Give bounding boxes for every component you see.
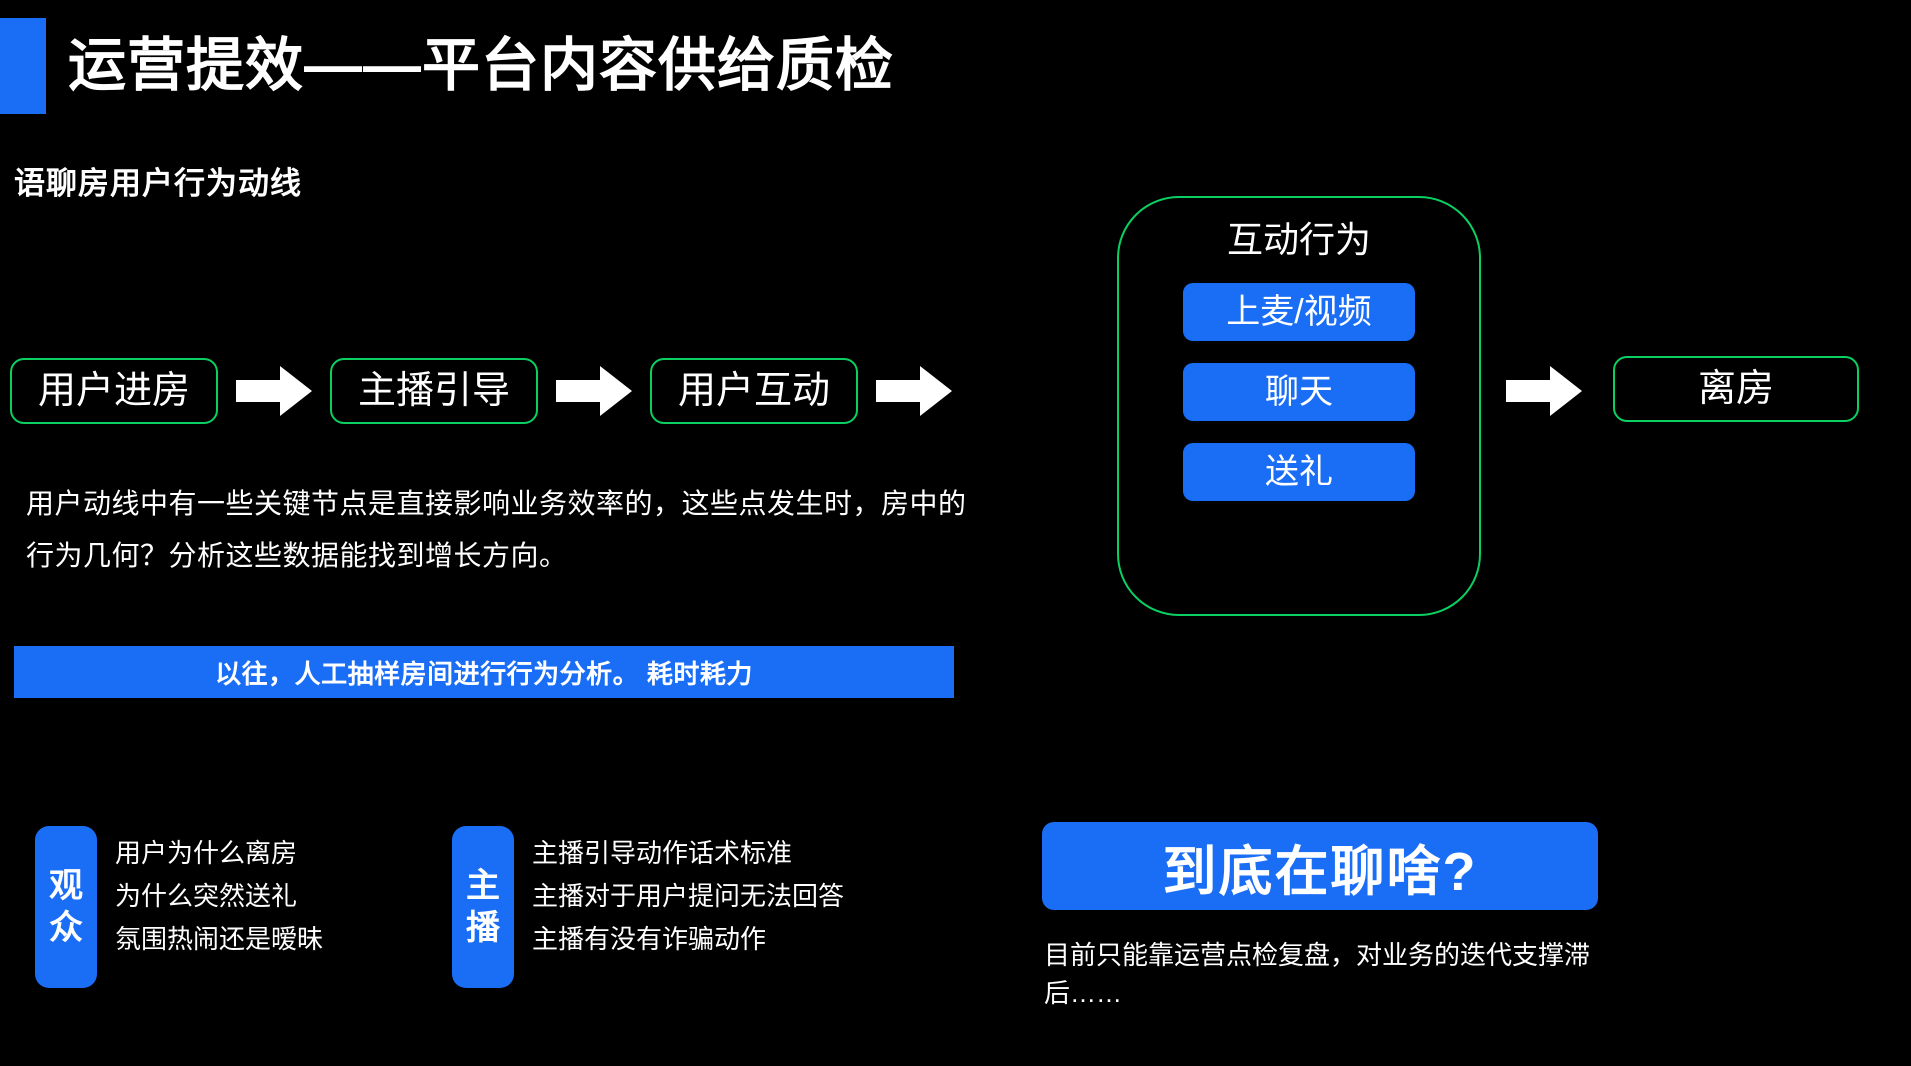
group-tag-char: 观 xyxy=(49,865,83,907)
legacy-method-banner-text: 以往，人工抽样房间进行行为分析。 耗时耗力 xyxy=(215,654,753,691)
flow-step-label: 离房 xyxy=(1698,370,1774,408)
group-item-list: 主播引导动作话术标准 主播对于用户提问无法回答 主播有没有诈骗动作 xyxy=(532,832,844,961)
question-group-audience: 观 众 用户为什么离房 为什么突然送礼 氛围热闹还是暧昧 xyxy=(35,826,323,988)
group-item-list: 用户为什么离房 为什么突然送礼 氛围热闹还是暧昧 xyxy=(115,832,323,961)
group-tag-audience: 观 众 xyxy=(35,826,97,988)
user-flow-diagram: 用户进房 主播引导 用户互动 xyxy=(10,356,970,426)
interaction-item-mic-video[interactable]: 上麦/视频 xyxy=(1183,283,1415,341)
group-tag-char: 众 xyxy=(49,907,83,949)
flow-step-host-guidance: 主播引导 xyxy=(330,358,538,424)
group-tag-char: 播 xyxy=(466,907,500,949)
legacy-method-banner: 以往，人工抽样房间进行行为分析。 耗时耗力 xyxy=(14,646,954,698)
cta-caption: 目前只能靠运营点检复盘，对业务的迭代支撑滞后…… xyxy=(1044,936,1604,1012)
right-arrow-icon xyxy=(1506,364,1582,418)
list-item: 用户为什么离房 xyxy=(115,832,323,875)
flow-step-label: 用户互动 xyxy=(678,372,830,410)
interaction-item-label: 聊天 xyxy=(1265,375,1333,409)
right-arrow-icon xyxy=(556,364,632,418)
flow-step-label: 用户进房 xyxy=(38,372,190,410)
list-item: 主播对于用户提问无法回答 xyxy=(532,875,844,918)
cta-headline-text: 到底在聊啥? xyxy=(1163,827,1478,906)
title-accent-bar xyxy=(0,18,46,114)
flow-step-user-interaction: 用户互动 xyxy=(650,358,858,424)
interaction-item-label: 上麦/视频 xyxy=(1226,295,1371,329)
list-item: 氛围热闹还是暧昧 xyxy=(115,918,323,961)
right-arrow-icon xyxy=(876,364,952,418)
flow-step-label: 主播引导 xyxy=(358,372,510,410)
flow-step-leave-room: 离房 xyxy=(1613,356,1859,422)
interaction-item-gift[interactable]: 送礼 xyxy=(1183,443,1415,501)
page-title-text: 运营提效——平台内容供给质检 xyxy=(68,37,894,95)
interaction-item-label: 送礼 xyxy=(1265,455,1333,489)
section-subtitle: 语聊房用户行为动线 xyxy=(14,158,302,203)
page-title: 运营提效——平台内容供给质检 xyxy=(0,18,894,114)
cta-headline-box: 到底在聊啥? xyxy=(1042,822,1598,910)
right-arrow-icon xyxy=(236,364,312,418)
group-tag-char: 主 xyxy=(466,865,500,907)
flow-step-enter-room: 用户进房 xyxy=(10,358,218,424)
list-item: 主播引导动作话术标准 xyxy=(532,832,844,875)
interaction-panel-title: 互动行为 xyxy=(1227,218,1371,261)
interaction-item-chat[interactable]: 聊天 xyxy=(1183,363,1415,421)
question-group-host: 主 播 主播引导动作话术标准 主播对于用户提问无法回答 主播有没有诈骗动作 xyxy=(452,826,844,988)
list-item: 主播有没有诈骗动作 xyxy=(532,918,844,961)
interaction-behavior-panel: 互动行为 上麦/视频 聊天 送礼 xyxy=(1117,196,1481,616)
list-item: 为什么突然送礼 xyxy=(115,875,323,918)
group-tag-host: 主 播 xyxy=(452,826,514,988)
description-paragraph: 用户动线中有一些关键节点是直接影响业务效率的，这些点发生时，房中的行为几何？分析… xyxy=(26,478,986,582)
